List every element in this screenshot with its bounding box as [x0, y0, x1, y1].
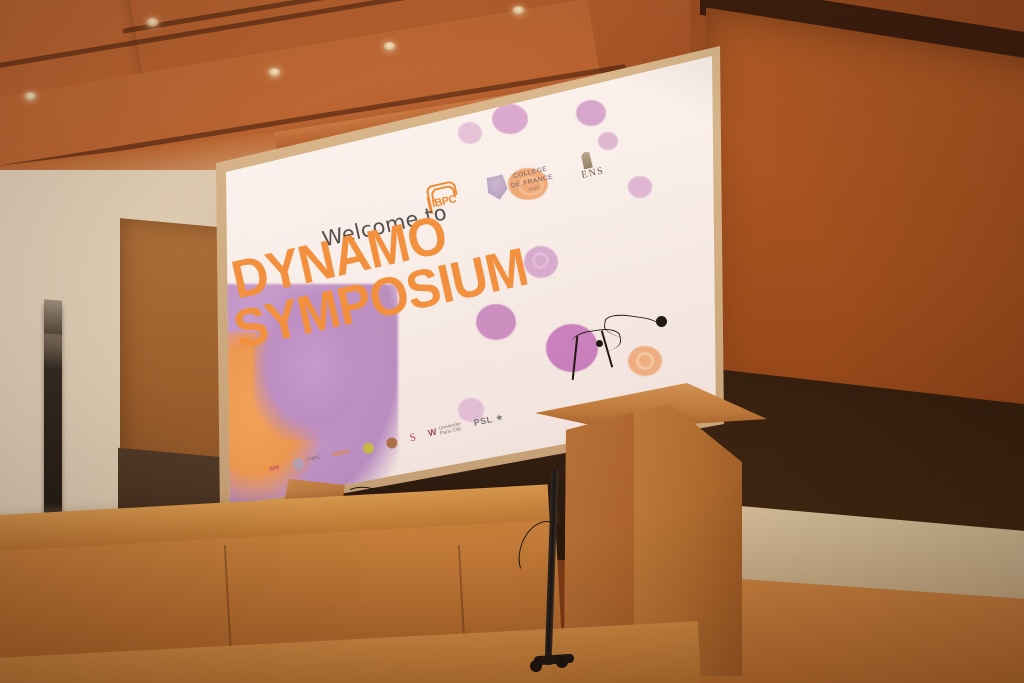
- speaker-panel: [44, 304, 62, 520]
- microphone-head-icon: [596, 340, 603, 347]
- college-de-france-label: COLLEGE DE FRANCE 1530: [509, 165, 556, 195]
- institut-logo-icon: [385, 436, 398, 449]
- downlight-icon: [268, 68, 281, 77]
- caster-wheel-icon: [530, 660, 542, 672]
- slide-logo-row-top: IBPC COLLEGE DE FRANCE 1530 ENS: [423, 147, 605, 216]
- cell-blob: [628, 176, 652, 198]
- caster-wheel-icon: [556, 656, 568, 668]
- inserm-logo-icon: [362, 441, 375, 454]
- cell-blob: [598, 132, 618, 150]
- labex-logo-icon: labex: [332, 448, 351, 459]
- cell-blob: [576, 100, 606, 126]
- downlight-icon: [383, 42, 396, 51]
- sorbonne-logo-icon: S: [409, 431, 418, 444]
- cell-blob: [492, 104, 528, 134]
- universite-paris-cite-logo-icon: W Universite Paris Cite: [427, 422, 462, 440]
- universite-paris-cite-label: Universite Paris Cite: [439, 422, 463, 438]
- downlight-icon: [24, 92, 37, 101]
- downlight-icon: [512, 6, 525, 15]
- cell-blob: [476, 304, 516, 340]
- anr-logo-icon: anr: [268, 464, 280, 474]
- cell-ring: [532, 252, 549, 269]
- ens-logo-icon: ENS: [577, 149, 606, 181]
- crest-icon: [485, 174, 510, 202]
- speaker-grille-icon: [44, 299, 62, 334]
- cell-ring: [636, 352, 654, 370]
- cell-blob: [458, 122, 482, 144]
- conference-hall-photo: IBPC COLLEGE DE FRANCE 1530 ENS Welcome …: [0, 0, 1024, 683]
- downlight-icon: [146, 18, 159, 27]
- microphone-head-icon: [656, 316, 667, 327]
